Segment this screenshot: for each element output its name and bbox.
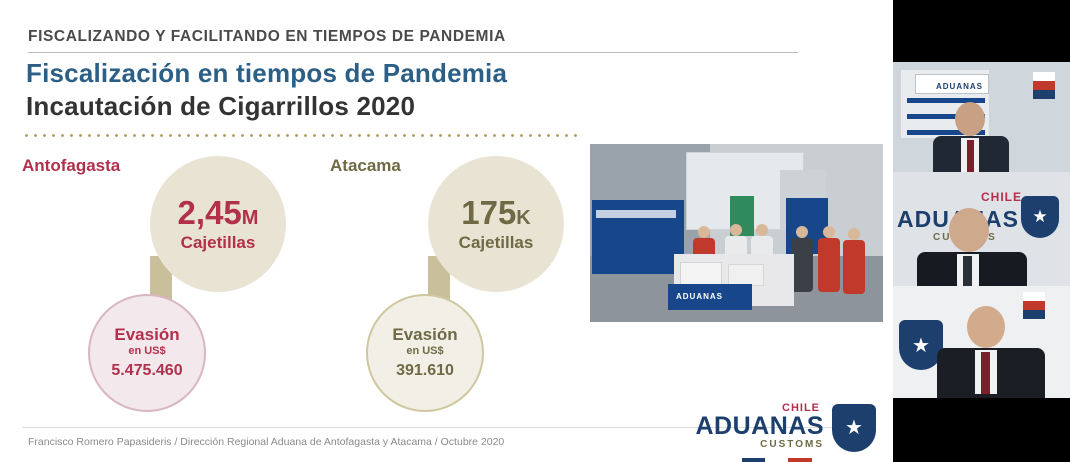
evasion-currency-atacama: en US$ bbox=[406, 345, 443, 357]
metric-label-antofagasta: Cajetillas bbox=[181, 233, 256, 253]
tile3-person-head bbox=[967, 306, 1005, 348]
photo-person-head bbox=[730, 224, 742, 236]
participant-tile-2[interactable]: ADUANAS CHILE CUSTOMS ★ bbox=[893, 172, 1070, 286]
photo-person-body bbox=[843, 240, 865, 294]
kicker-divider bbox=[28, 52, 798, 53]
participant-tile-3[interactable]: ★ bbox=[893, 286, 1070, 398]
photo-banner-left-stripe bbox=[596, 210, 676, 218]
metric-value-atacama: 175K bbox=[461, 196, 531, 229]
evasion-currency-antofagasta: en US$ bbox=[128, 345, 165, 357]
star-shield-icon: ★ bbox=[832, 404, 876, 452]
metric-value-antofagasta: 2,45M bbox=[178, 196, 259, 229]
evasion-value-antofagasta: 5.475.460 bbox=[111, 362, 182, 380]
metric-number-atacama: 175 bbox=[461, 194, 516, 231]
evasion-title-antofagasta: Evasión bbox=[114, 326, 179, 344]
photo-seized-box bbox=[728, 264, 764, 286]
tile1-logo-plaque: ADUANAS bbox=[915, 74, 989, 94]
tile1-logo-text: ADUANAS bbox=[936, 82, 983, 91]
evasion-circle-atacama: Evasión en US$ 391.610 bbox=[366, 294, 484, 412]
metric-circle-antofagasta: 2,45M Cajetillas bbox=[150, 156, 286, 292]
participant-tile-1[interactable]: ADUANAS bbox=[893, 62, 1070, 172]
chile-flag-icon bbox=[742, 458, 812, 462]
evasion-circle-antofagasta: Evasión en US$ 5.475.460 bbox=[88, 294, 206, 412]
evasion-title-atacama: Evasión bbox=[392, 326, 457, 344]
screen-root: FISCALIZANDO Y FACILITANDO EN TIEMPOS DE… bbox=[0, 0, 1070, 462]
photo-person-head bbox=[698, 226, 710, 238]
aduanas-logo: CHILE ADUANAS CUSTOMS ★ bbox=[640, 402, 880, 454]
photo-person-head bbox=[796, 226, 808, 238]
photo-person-body bbox=[818, 238, 840, 292]
metric-unit-atacama: K bbox=[516, 207, 530, 229]
logo-aduanas-text: ADUANAS bbox=[696, 412, 825, 441]
tile1-person-head bbox=[955, 102, 985, 136]
metric-circle-atacama: 175K Cajetillas bbox=[428, 156, 564, 292]
slide-title-line-2: Incautación de Cigarrillos 2020 bbox=[26, 91, 415, 122]
tile3-tie bbox=[981, 352, 990, 394]
tile2-tie bbox=[963, 256, 972, 286]
photo-person-body bbox=[791, 238, 813, 292]
presentation-slide: FISCALIZANDO Y FACILITANDO EN TIEMPOS DE… bbox=[0, 0, 893, 462]
photo-table-logo-text: ADUANAS bbox=[676, 292, 723, 301]
photo-person-head bbox=[848, 228, 860, 240]
tile1-tie bbox=[967, 140, 974, 172]
metric-label-atacama: Cajetillas bbox=[459, 233, 534, 253]
metric-number-antofagasta: 2,45 bbox=[178, 194, 242, 231]
slide-title-line-1: Fiscalización en tiempos de Pandemia bbox=[26, 58, 507, 89]
aduanas-seal-icon: ★ bbox=[1021, 196, 1059, 238]
evasion-value-atacama: 391.610 bbox=[396, 362, 454, 380]
metric-unit-antofagasta: M bbox=[242, 207, 259, 229]
slide-footer-note: Francisco Romero Papasideris / Dirección… bbox=[28, 436, 504, 448]
dotted-divider bbox=[22, 134, 582, 137]
tile2-wall-chile-text: CHILE bbox=[981, 190, 1022, 204]
chile-flag-icon bbox=[1033, 72, 1055, 99]
slide-canvas: FISCALIZANDO Y FACILITANDO EN TIEMPOS DE… bbox=[0, 6, 893, 456]
seizure-photo: ADUANAS bbox=[590, 144, 883, 322]
photo-person-head bbox=[756, 224, 768, 236]
chile-flag-icon bbox=[1023, 292, 1045, 319]
tile2-person-head bbox=[949, 208, 989, 252]
slide-kicker: FISCALIZANDO Y FACILITANDO EN TIEMPOS DE… bbox=[28, 28, 506, 46]
region-label-atacama: Atacama bbox=[330, 156, 401, 176]
photo-person-head bbox=[823, 226, 835, 238]
region-label-antofagasta: Antofagasta bbox=[22, 156, 120, 176]
logo-customs-text: CUSTOMS bbox=[760, 439, 824, 450]
video-participants-panel: ADUANAS ADUANAS CHILE CUSTOMS ★ ★ bbox=[893, 0, 1070, 462]
